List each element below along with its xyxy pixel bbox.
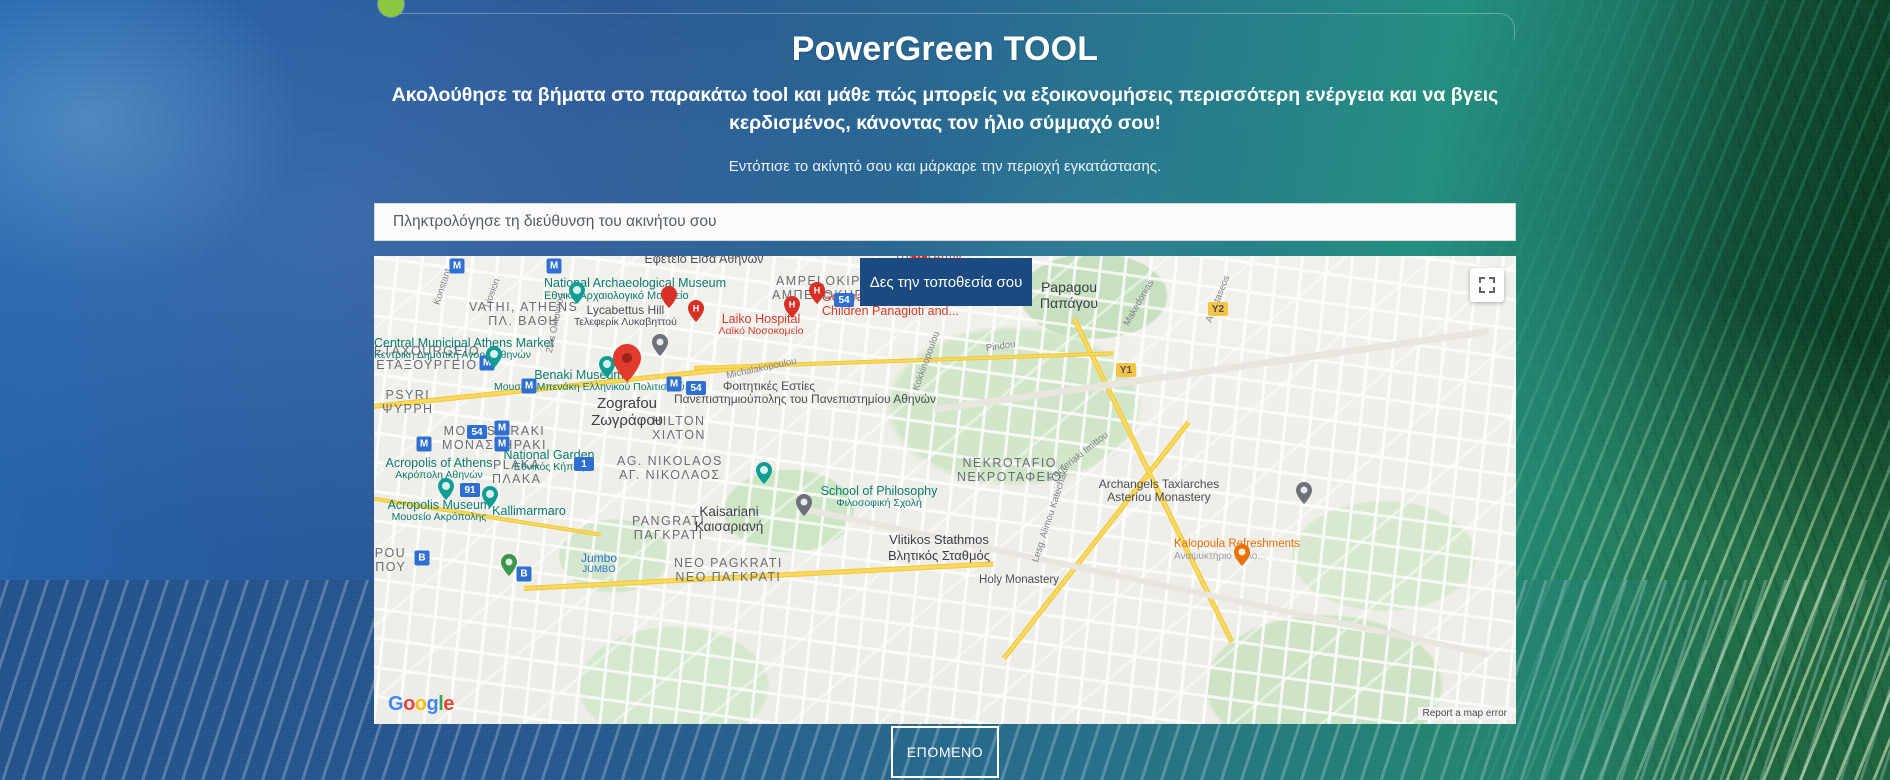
metro-icon[interactable]: M — [522, 379, 537, 394]
acropolis-pin-icon[interactable] — [438, 478, 454, 500]
map-route-shield[interactable]: Y1 — [1116, 363, 1136, 377]
market-pin-icon[interactable] — [486, 346, 502, 368]
next-button[interactable]: ΕΠΟΜΕΝΟ — [891, 726, 999, 778]
powergreen-tool-page: PowerGreen TOOL Ακολούθησε τα βήματα στο… — [0, 0, 1890, 780]
map-route-shield[interactable]: 54 — [686, 381, 706, 395]
address-input-placeholder: Πληκτρολόγησε τη διεύθυνση του ακινήτου … — [393, 213, 717, 231]
svg-text:H: H — [789, 300, 796, 310]
bus-icon[interactable]: B — [517, 567, 532, 582]
hospital-pin-icon[interactable]: H — [784, 296, 800, 318]
metro-icon[interactable]: M — [495, 421, 510, 436]
map-route-shield[interactable]: 54 — [467, 425, 487, 439]
metro-icon[interactable]: M — [450, 259, 465, 274]
map-route-shield[interactable]: 1 — [574, 457, 594, 471]
metro-icon[interactable]: M — [417, 437, 432, 452]
map-route-shield[interactable]: 91 — [460, 483, 480, 497]
bus-icon[interactable]: B — [415, 551, 430, 566]
park-pin-icon[interactable] — [501, 554, 517, 576]
step-progress — [0, 0, 1890, 28]
restaurant-pin-icon[interactable] — [1234, 544, 1250, 566]
metro-icon[interactable]: M — [667, 377, 682, 392]
philosophy-pin-icon[interactable] — [756, 462, 772, 484]
map-route-shield[interactable]: Y2 — [1208, 302, 1228, 316]
metro-icon[interactable]: M — [495, 437, 510, 452]
poi-pin-icon[interactable] — [652, 334, 668, 356]
map-attribution[interactable]: Report a map error — [1418, 707, 1512, 720]
metro-icon[interactable]: M — [547, 259, 562, 274]
map-canvas[interactable]: VATHI, ATHENS ΠΛ. ΒΑΘΗ METAXOURGEIO ΜΕΤΑ… — [374, 256, 1516, 724]
kallimarmaro-pin-icon[interactable] — [482, 486, 498, 508]
fullscreen-icon[interactable] — [1470, 268, 1504, 302]
page-subtitle: Ακολούθησε τα βήματα στο παρακάτω tool κ… — [380, 82, 1510, 137]
hospital-pin-icon[interactable] — [661, 286, 677, 308]
selected-location-marker[interactable] — [613, 344, 641, 382]
map-route-shield[interactable]: 54 — [834, 293, 854, 307]
svg-text:H: H — [693, 304, 700, 314]
google-logo: Google — [388, 693, 454, 716]
page-title: PowerGreen TOOL — [0, 30, 1890, 69]
museum-pin-icon[interactable] — [569, 282, 585, 304]
svg-text:H: H — [814, 286, 821, 296]
poi-pin-icon[interactable] — [796, 494, 812, 516]
map-street-grid-diagonal — [374, 256, 1516, 724]
see-location-button[interactable]: Δες την τοποθεσία σου — [860, 258, 1032, 306]
monastery-pin-icon[interactable] — [1296, 482, 1312, 504]
hospital-pin-icon[interactable]: H — [809, 282, 825, 304]
page-hint: Εντόπισε το ακίνητό σου και μάρκαρε την … — [380, 158, 1510, 175]
address-input[interactable]: Πληκτρολόγησε τη διεύθυνση του ακινήτου … — [374, 203, 1516, 241]
hospital-pin-icon[interactable]: H — [688, 300, 704, 322]
